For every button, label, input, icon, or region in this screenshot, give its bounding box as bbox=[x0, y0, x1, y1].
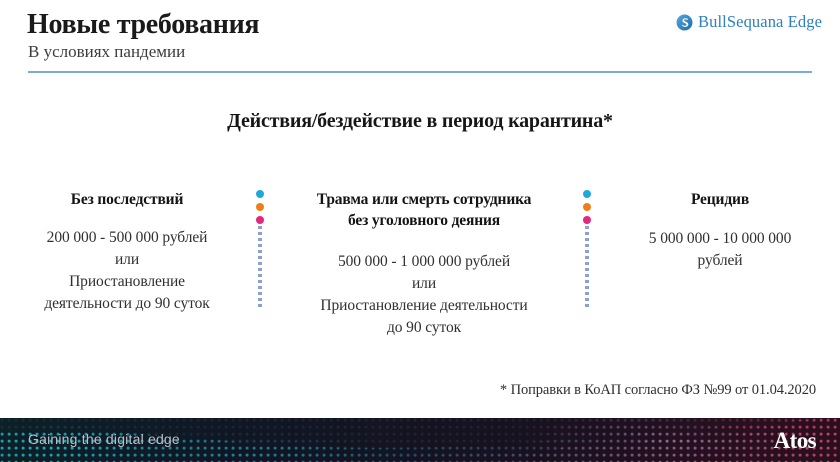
column-line: 200 000 - 500 000 рублей bbox=[8, 227, 246, 249]
divider-dotted-line bbox=[585, 226, 589, 310]
column-line: до 90 суток bbox=[280, 317, 568, 339]
bullsequana-edge-logo: BullSequana Edge bbox=[676, 12, 822, 32]
divider-dotted-line bbox=[258, 226, 262, 310]
content-heading: Действия/бездействие в период карантина* bbox=[0, 110, 840, 133]
column-line: 5 000 000 - 10 000 000 bbox=[604, 228, 836, 250]
atos-logo: Atos bbox=[774, 428, 816, 454]
columns-container: Без последствий 200 000 - 500 000 рублей… bbox=[0, 190, 840, 350]
column-injury-or-death: Травма или смерть сотрудника без уголовн… bbox=[280, 190, 568, 339]
column-divider-2 bbox=[583, 190, 592, 310]
footnote: * Поправки в КоАП согласно ФЗ №99 от 01.… bbox=[500, 382, 816, 399]
divider-dot-magenta-icon bbox=[256, 216, 264, 224]
slide-footer: Gaining the digital edge Atos bbox=[0, 418, 840, 462]
column-body: 5 000 000 - 10 000 000 рублей bbox=[604, 228, 836, 272]
divider-dot-orange-icon bbox=[583, 203, 591, 211]
column-line: рублей bbox=[604, 250, 836, 272]
column-line: деятельности до 90 суток bbox=[8, 293, 246, 315]
footer-tagline: Gaining the digital edge bbox=[28, 431, 180, 447]
divider-dot-orange-icon bbox=[256, 203, 264, 211]
column-title-line: Травма или смерть сотрудника bbox=[280, 190, 568, 211]
divider-dot-cyan-icon bbox=[256, 190, 264, 198]
column-line: или bbox=[280, 273, 568, 295]
bullsequana-swirl-icon bbox=[676, 14, 693, 31]
column-divider-1 bbox=[256, 190, 265, 310]
column-line: Приостановление деятельности bbox=[280, 295, 568, 317]
divider-dot-magenta-icon bbox=[583, 216, 591, 224]
slide-root: Новые требования В условиях пандемии Bul… bbox=[0, 0, 840, 462]
column-title: Без последствий bbox=[8, 190, 246, 211]
page-subtitle: В условиях пандемии bbox=[28, 42, 185, 62]
column-title: Травма или смерть сотрудника без уголовн… bbox=[280, 190, 568, 231]
column-body: 500 000 - 1 000 000 рублей или Приостано… bbox=[280, 251, 568, 339]
slide-header: Новые требования В условиях пандемии Bul… bbox=[0, 0, 840, 74]
column-recidivism: Рецидив 5 000 000 - 10 000 000 рублей bbox=[604, 190, 836, 272]
column-no-consequences: Без последствий 200 000 - 500 000 рублей… bbox=[8, 190, 246, 315]
column-title: Рецидив bbox=[604, 190, 836, 211]
header-divider-rule bbox=[28, 71, 812, 73]
page-title: Новые требования bbox=[27, 9, 259, 41]
bullsequana-edge-label: BullSequana Edge bbox=[698, 12, 822, 32]
column-title-line: без уголовного деяния bbox=[280, 211, 568, 232]
column-line: Приостановление bbox=[8, 271, 246, 293]
divider-dot-cyan-icon bbox=[583, 190, 591, 198]
column-line: или bbox=[8, 249, 246, 271]
column-body: 200 000 - 500 000 рублей или Приостановл… bbox=[8, 227, 246, 315]
column-line: 500 000 - 1 000 000 рублей bbox=[280, 251, 568, 273]
